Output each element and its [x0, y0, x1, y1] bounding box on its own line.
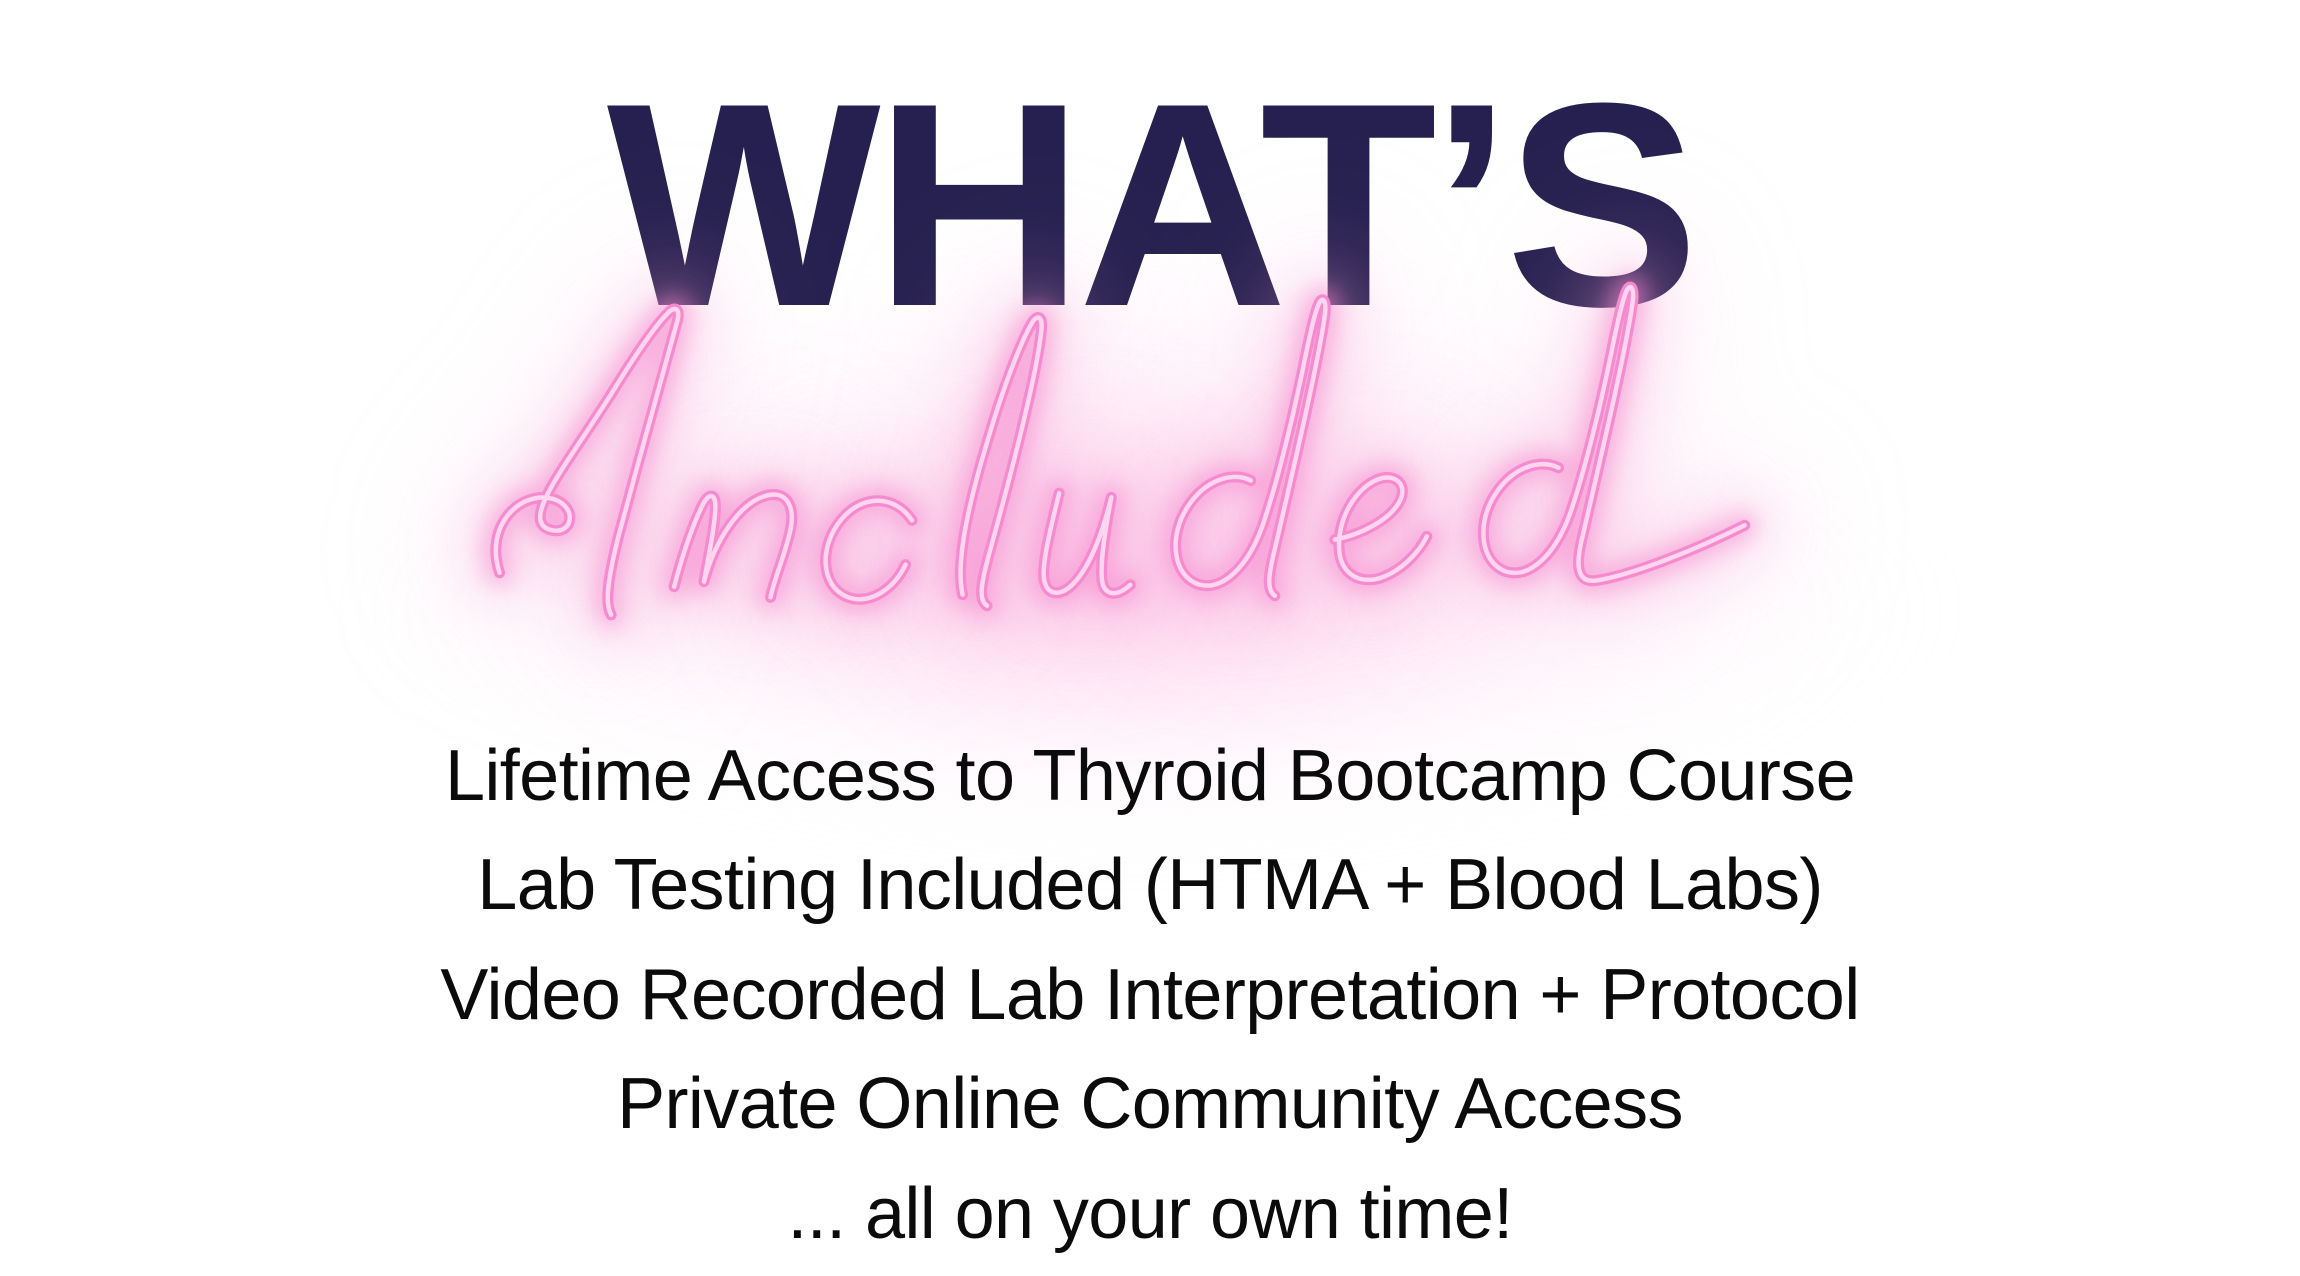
body-line: Private Online Community Access — [100, 1050, 2200, 1159]
headline-primary: WHAT’S — [607, 72, 1693, 339]
body-line: Lab Testing Included (HTMA + Blood Labs) — [100, 831, 2200, 940]
body-line: Lifetime Access to Thyroid Bootcamp Cour… — [100, 722, 2200, 831]
slide-canvas: WHAT’S — [0, 0, 2300, 1276]
body-line: Video Recorded Lab Interpretation + Prot… — [100, 941, 2200, 1050]
body-copy-block: Lifetime Access to Thyroid Bootcamp Cour… — [100, 722, 2200, 1269]
headline-block: WHAT’S — [0, 0, 2300, 700]
body-line: ... all on your own time! — [100, 1160, 2200, 1269]
